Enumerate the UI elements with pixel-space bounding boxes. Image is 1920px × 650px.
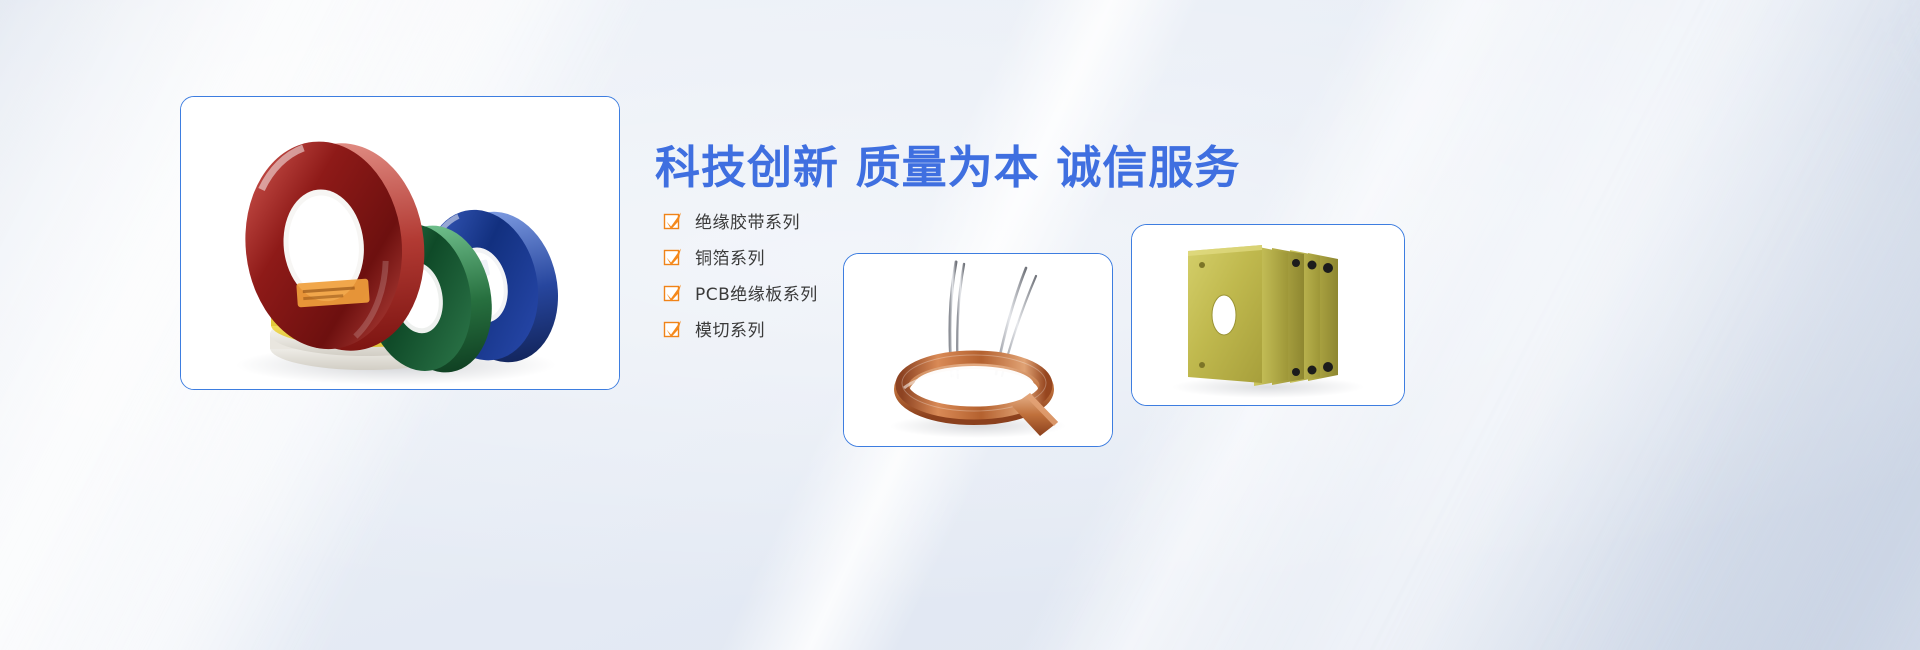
list-item[interactable]: 绝缘胶带系列 [663,203,818,238]
feature-label: 模切系列 [695,316,765,341]
product-card-pcb-boards[interactable] [1131,224,1405,406]
list-item[interactable]: 模切系列 [663,311,818,346]
checkbox-checked-icon [663,247,682,266]
checkbox-checked-icon [663,211,682,230]
promo-banner: 科技创新 质量为本 诚信服务 绝缘胶带系列 铜箔系列 [0,0,1920,650]
product-card-insulation-tape[interactable] [180,96,620,390]
feature-label: 铜箔系列 [695,244,765,269]
checkbox-checked-icon [663,283,682,302]
feature-list: 绝缘胶带系列 铜箔系列 PCB绝缘板系列 [663,203,818,347]
checkbox-checked-icon [663,319,682,338]
list-item[interactable]: 铜箔系列 [663,239,818,274]
feature-label: PCB绝缘板系列 [695,280,818,305]
product-card-copper-foil[interactable] [843,253,1113,447]
light-streak-decoration [1519,14,1920,650]
banner-headline: 科技创新 质量为本 诚信服务 [655,131,1240,196]
insulation-tape-rolls-image [181,97,619,389]
list-item[interactable]: PCB绝缘板系列 [663,275,818,310]
copper-foil-coil-image [844,254,1112,446]
feature-label: 绝缘胶带系列 [695,208,800,233]
pcb-insulation-boards-image [1132,225,1404,405]
